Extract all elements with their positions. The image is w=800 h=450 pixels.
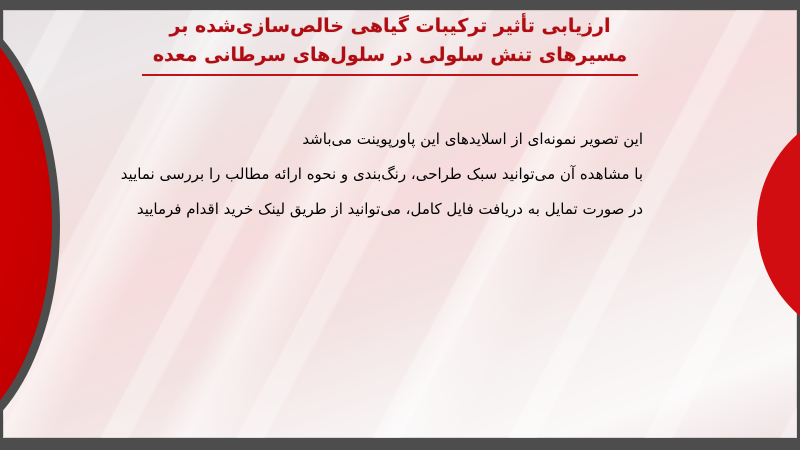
title-line-2: مسیرهای تنش سلولی در سلول‌های سرطانی معد…: [110, 41, 670, 70]
body-line-2: با مشاهده آن می‌توانید سبک طراحی، رنگ‌بن…: [123, 157, 643, 192]
body-line-1: این تصویر نمونه‌ای از اسلایدهای این پاور…: [123, 122, 643, 157]
dark-frame-bottom: [0, 438, 800, 450]
slide-canvas: ارزیابی تأثیر ترکیبات گیاهی خالص‌سازی‌شد…: [0, 0, 800, 450]
slide-body: این تصویر نمونه‌ای از اسلایدهای این پاور…: [123, 122, 643, 227]
title-line-1: ارزیابی تأثیر ترکیبات گیاهی خالص‌سازی‌شد…: [110, 12, 670, 41]
dark-frame-top: [0, 0, 800, 10]
slide-title: ارزیابی تأثیر ترکیبات گیاهی خالص‌سازی‌شد…: [110, 12, 670, 76]
title-underline: [142, 74, 638, 76]
body-line-3: در صورت تمایل به دریافت فایل کامل، می‌تو…: [123, 192, 643, 227]
